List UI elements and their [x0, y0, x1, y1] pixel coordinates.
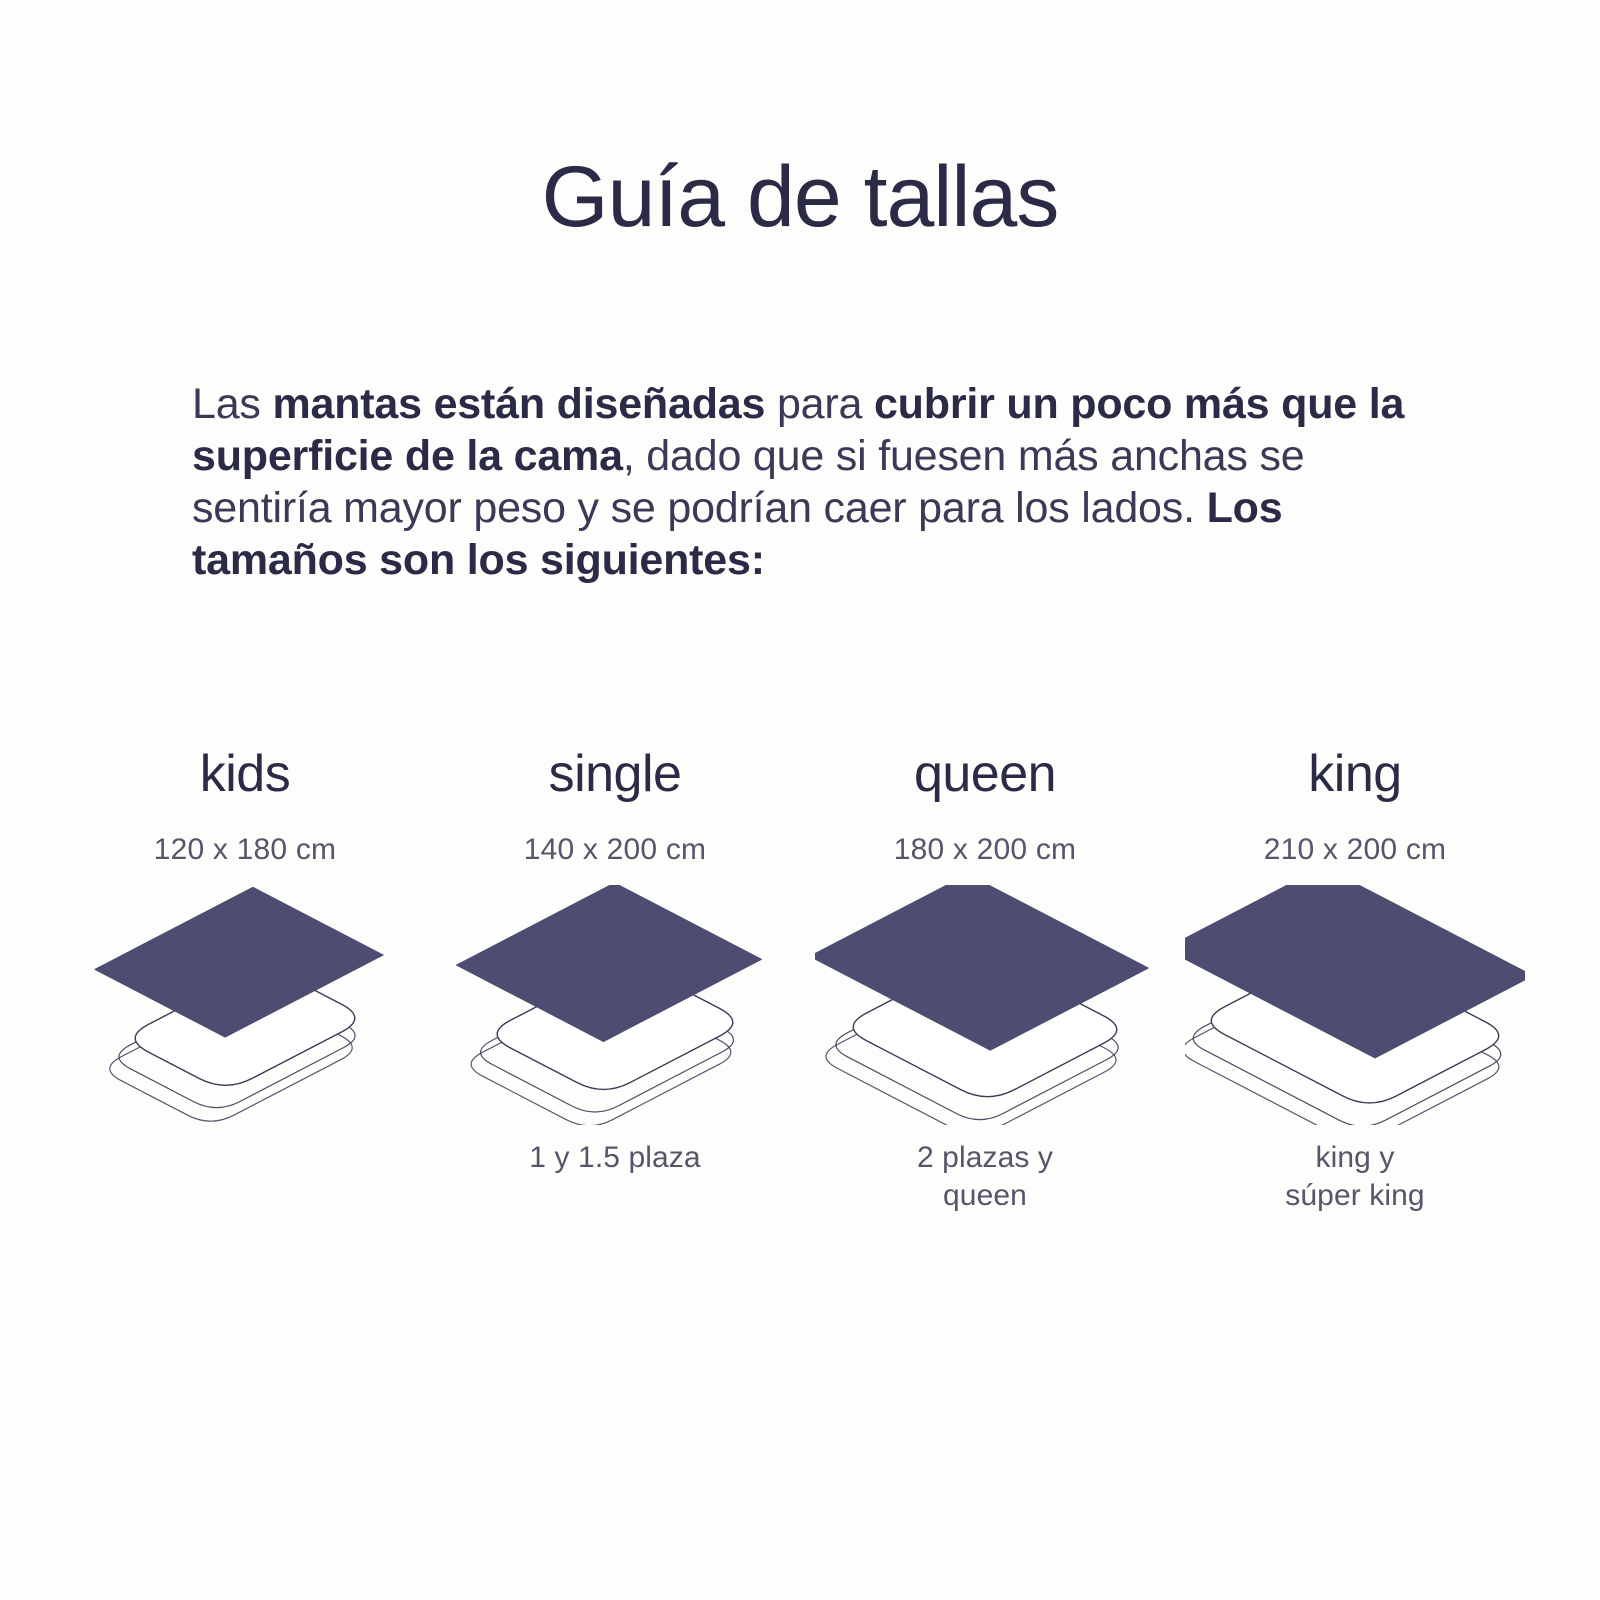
bed-blanket-icon — [75, 885, 415, 1125]
size-dimensions: 140 x 200 cm — [524, 833, 707, 873]
bed-blanket-icon — [815, 885, 1155, 1125]
size-label: single — [549, 745, 682, 811]
size-columns: kids 120 x 180 cm single 140 x 200 cm 1 … — [60, 745, 1540, 1215]
size-column-single: single 140 x 200 cm 1 y 1.5 plaza — [430, 745, 800, 1177]
size-column-king: king 210 x 200 cm king y súper king — [1170, 745, 1540, 1215]
size-caption: king y súper king — [1285, 1139, 1424, 1215]
size-caption: 2 plazas y queen — [917, 1139, 1053, 1215]
size-column-queen: queen 180 x 200 cm 2 plazas y queen — [800, 745, 1170, 1215]
bed-blanket-icon — [1185, 885, 1525, 1125]
bed-blanket-icon — [445, 885, 785, 1125]
size-label: kids — [200, 745, 290, 811]
size-label: king — [1308, 745, 1401, 811]
size-guide-page: Guía de tallas Las mantas están diseñada… — [0, 0, 1600, 1600]
page-title: Guía de tallas — [0, 150, 1600, 245]
size-dimensions: 210 x 200 cm — [1264, 833, 1447, 873]
size-dimensions: 120 x 180 cm — [154, 833, 337, 873]
size-label: queen — [914, 745, 1056, 811]
size-column-kids: kids 120 x 180 cm — [60, 745, 430, 1177]
size-dimensions: 180 x 200 cm — [894, 833, 1077, 873]
intro-paragraph: Las mantas están diseñadas para cubrir u… — [192, 378, 1407, 586]
size-caption: 1 y 1.5 plaza — [529, 1139, 700, 1177]
